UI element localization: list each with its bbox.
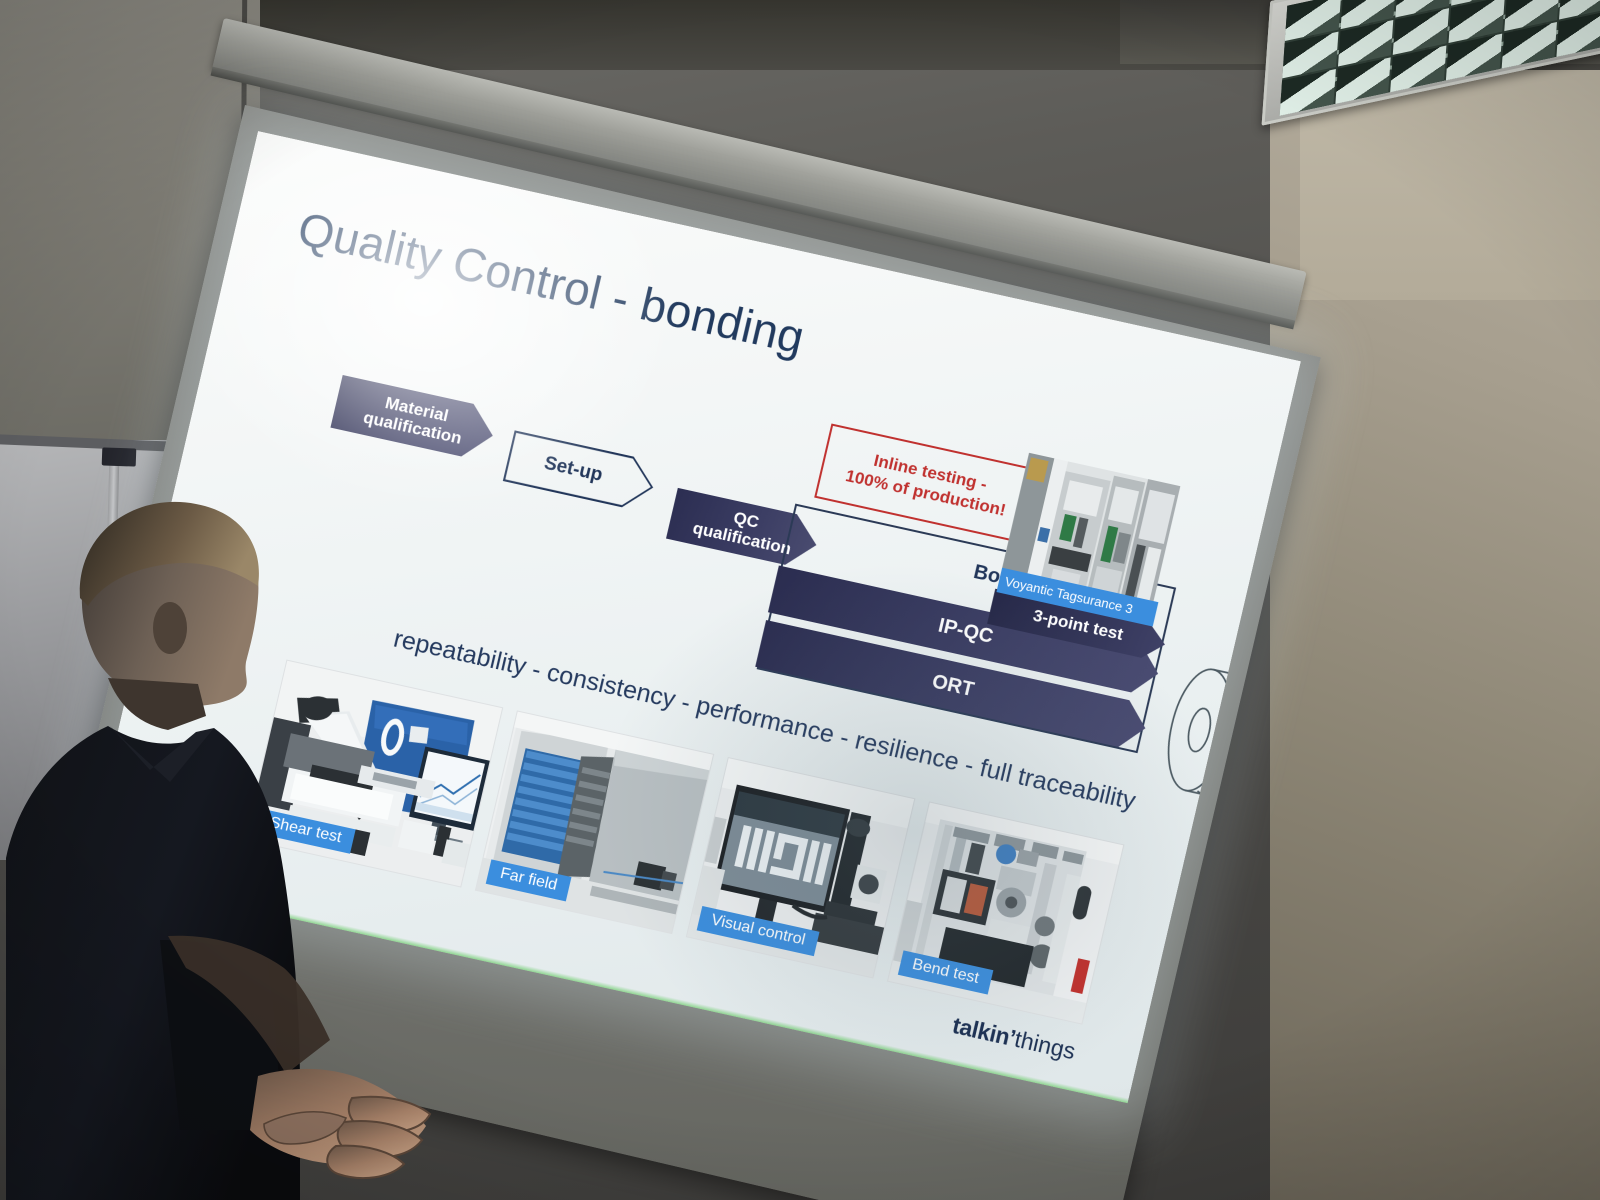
whiteboard-clip xyxy=(102,447,137,466)
bend-test-illustration xyxy=(888,803,1125,1025)
process-bar-ip-qc-label: IP-QC xyxy=(936,614,995,648)
process-bar-ort-label: ORT xyxy=(930,670,976,701)
flow-step-material-qualification: Material qualification xyxy=(330,375,499,462)
presenter xyxy=(0,470,470,1200)
photo-visual-control: Visual control xyxy=(686,757,916,979)
presenter-silhouette xyxy=(0,470,470,1200)
photo-far-field: Far field xyxy=(475,710,714,934)
flow-step-set-up: Set-up xyxy=(503,430,659,513)
presenter-neck xyxy=(108,678,206,730)
presentation-room-scene: Quality Control - bonding Material quali… xyxy=(0,0,1600,1200)
presenter-ear xyxy=(153,602,187,654)
photo-bend-test: Bend test xyxy=(887,801,1124,1024)
far-field-illustration xyxy=(476,712,715,935)
